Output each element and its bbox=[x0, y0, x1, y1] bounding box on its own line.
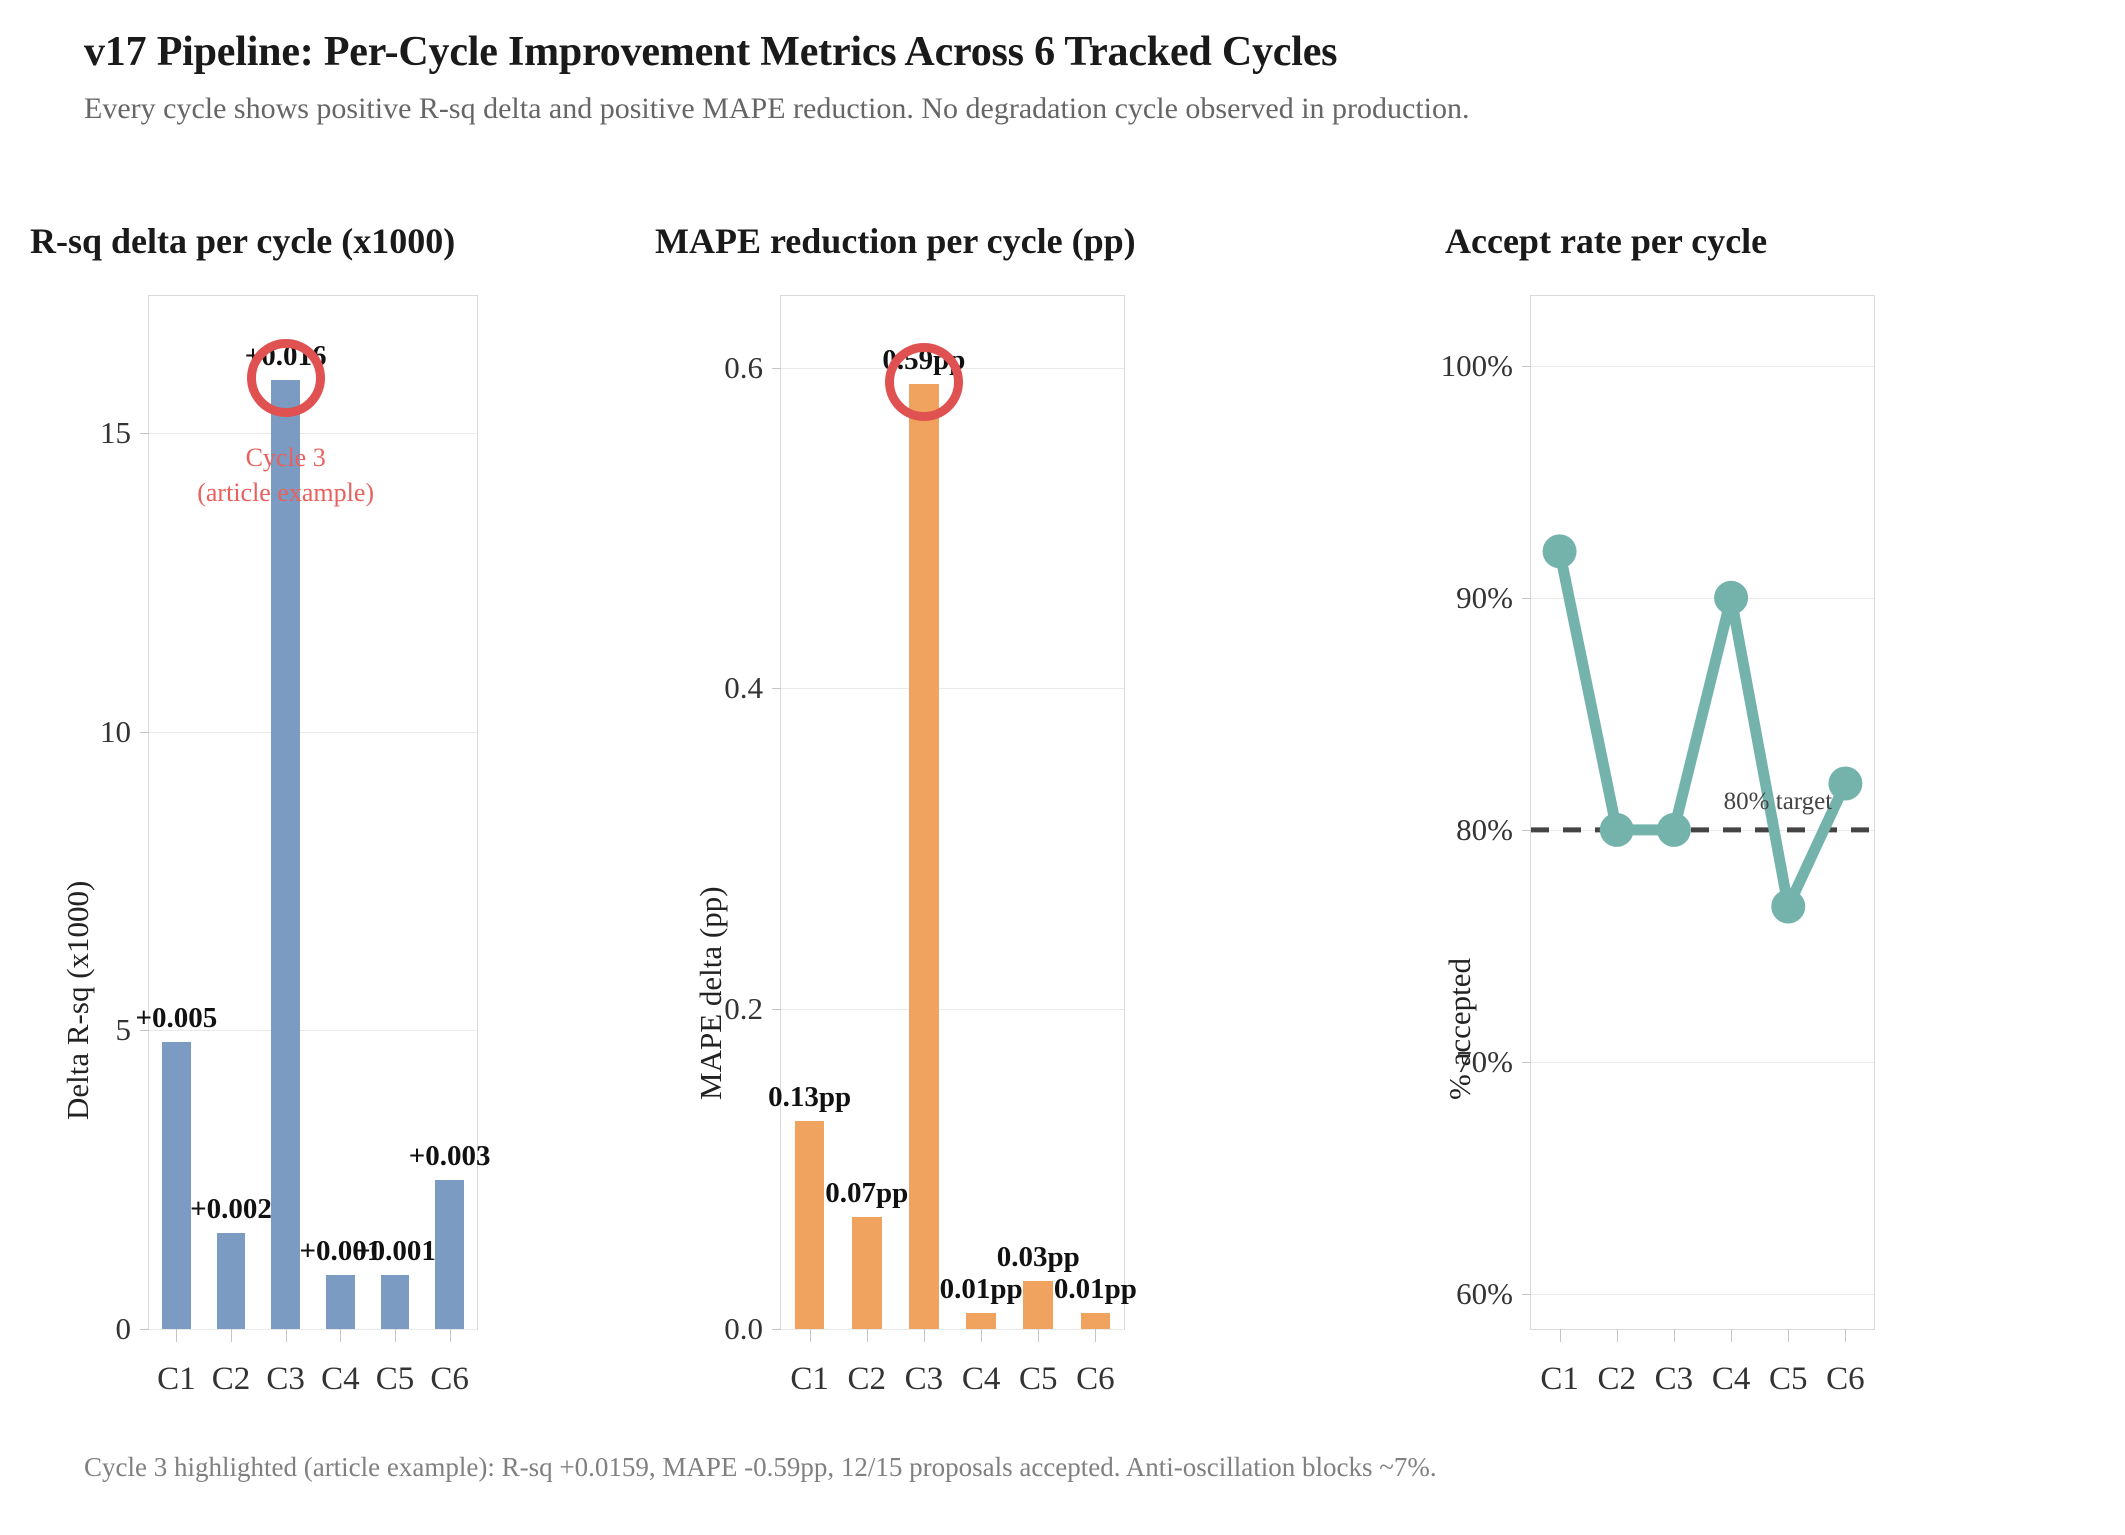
x-tick-label-c2: C2 bbox=[1597, 1361, 1636, 1398]
panel-2-title: MAPE reduction per cycle (pp) bbox=[655, 220, 1136, 262]
y-tick-label: 15 bbox=[100, 415, 131, 451]
figure-footnote: Cycle 3 highlighted (article example): R… bbox=[84, 1452, 1437, 1483]
x-tick-label-c4: C4 bbox=[962, 1361, 1001, 1398]
y-tick-mark bbox=[1522, 366, 1531, 367]
x-tick-mark bbox=[1845, 1329, 1846, 1342]
bar-label-c1: 0.13pp bbox=[768, 1081, 851, 1114]
gridline bbox=[781, 1009, 1124, 1010]
x-tick-mark bbox=[1731, 1329, 1732, 1342]
accept-rate-polyline bbox=[1560, 551, 1846, 906]
x-tick-label-c5: C5 bbox=[376, 1361, 415, 1398]
y-tick-mark bbox=[140, 433, 149, 434]
panel-2-plot-area: 0.00.20.40.6C1C2C3C4C5C60.13pp0.07pp0.59… bbox=[780, 295, 1125, 1330]
x-tick-label-c2: C2 bbox=[212, 1361, 251, 1398]
bar-c5 bbox=[381, 1275, 409, 1329]
gridline bbox=[149, 433, 477, 434]
bar-c2 bbox=[217, 1233, 245, 1329]
y-tick-label: 0.4 bbox=[724, 670, 763, 706]
panel-3-title: Accept rate per cycle bbox=[1445, 220, 1767, 262]
bar-label-c6: +0.003 bbox=[409, 1140, 491, 1173]
bar-label-c5: +0.001 bbox=[354, 1235, 436, 1268]
gridline bbox=[781, 688, 1124, 689]
panel-1-title: R-sq delta per cycle (x1000) bbox=[30, 220, 455, 262]
y-tick-mark bbox=[1522, 1062, 1531, 1063]
x-tick-label-c4: C4 bbox=[321, 1361, 360, 1398]
bar-c2 bbox=[852, 1217, 882, 1329]
bar-c3 bbox=[909, 384, 939, 1329]
figure-header: v17 Pipeline: Per-Cycle Improvement Metr… bbox=[84, 28, 2074, 126]
data-point-c4 bbox=[1714, 581, 1748, 615]
x-tick-mark bbox=[867, 1329, 868, 1342]
x-tick-label-c6: C6 bbox=[1076, 1361, 1115, 1398]
bar-label-c1: +0.005 bbox=[135, 1002, 217, 1035]
y-tick-mark bbox=[772, 1329, 781, 1330]
x-tick-mark bbox=[340, 1329, 341, 1342]
x-tick-mark bbox=[1674, 1329, 1675, 1342]
x-tick-label-c4: C4 bbox=[1712, 1361, 1751, 1398]
x-tick-mark bbox=[1617, 1329, 1618, 1342]
x-tick-label-c1: C1 bbox=[790, 1361, 829, 1398]
x-tick-mark bbox=[981, 1329, 982, 1342]
y-tick-mark bbox=[1522, 598, 1531, 599]
x-tick-mark bbox=[176, 1329, 177, 1342]
bar-label-c2: +0.002 bbox=[190, 1193, 272, 1226]
bar-label-c2: 0.07pp bbox=[825, 1177, 908, 1210]
highlight-ring-c3 bbox=[247, 339, 325, 417]
y-tick-mark bbox=[772, 1009, 781, 1010]
x-tick-label-c6: C6 bbox=[430, 1361, 469, 1398]
y-tick-label: 90% bbox=[1456, 580, 1513, 616]
x-tick-mark bbox=[286, 1329, 287, 1342]
y-tick-label: 5 bbox=[116, 1012, 132, 1048]
data-point-c2 bbox=[1600, 813, 1634, 847]
panel-3-plot-area: 60%70%80%90%100%C1C2C3C4C5C680% target bbox=[1530, 295, 1875, 1330]
y-tick-mark bbox=[1522, 1294, 1531, 1295]
x-tick-label-c6: C6 bbox=[1826, 1361, 1865, 1398]
y-tick-mark bbox=[140, 732, 149, 733]
y-tick-label: 0.6 bbox=[724, 350, 763, 386]
bar-c5 bbox=[1023, 1281, 1053, 1329]
y-tick-mark bbox=[1522, 830, 1531, 831]
panel-rsq-delta: R-sq delta per cycle (x1000) Delta R-sq … bbox=[30, 220, 690, 1400]
data-point-c3 bbox=[1657, 813, 1691, 847]
gridline bbox=[781, 1329, 1124, 1330]
x-tick-mark bbox=[450, 1329, 451, 1342]
y-tick-label: 0 bbox=[116, 1311, 132, 1347]
y-tick-label: 100% bbox=[1441, 348, 1513, 384]
x-tick-mark bbox=[810, 1329, 811, 1342]
data-point-c6 bbox=[1828, 766, 1862, 800]
x-tick-mark bbox=[1095, 1329, 1096, 1342]
page-title: v17 Pipeline: Per-Cycle Improvement Metr… bbox=[84, 28, 2074, 76]
y-tick-label: 0.2 bbox=[724, 991, 763, 1027]
x-tick-label-c3: C3 bbox=[266, 1361, 305, 1398]
y-tick-mark bbox=[772, 368, 781, 369]
page-subtitle: Every cycle shows positive R-sq delta an… bbox=[84, 92, 2074, 126]
bar-label-c4: 0.01pp bbox=[940, 1273, 1023, 1306]
y-tick-label: 0.0 bbox=[724, 1311, 763, 1347]
highlight-ring-c3 bbox=[885, 343, 963, 421]
panel-1-plot-area: 051015C1C2C3C4C5C6+0.005+0.002+0.016Cycl… bbox=[148, 295, 478, 1330]
bar-c6 bbox=[1081, 1313, 1111, 1329]
x-tick-mark bbox=[231, 1329, 232, 1342]
y-tick-mark bbox=[772, 688, 781, 689]
data-point-c1 bbox=[1543, 534, 1577, 568]
x-tick-mark bbox=[1560, 1329, 1561, 1342]
x-tick-label-c1: C1 bbox=[157, 1361, 196, 1398]
bar-c4 bbox=[966, 1313, 996, 1329]
x-tick-mark bbox=[1038, 1329, 1039, 1342]
bar-c6 bbox=[435, 1180, 463, 1329]
panel-mape-reduction: MAPE reduction per cycle (pp) MAPE delta… bbox=[655, 220, 1355, 1400]
bar-c1 bbox=[162, 1042, 190, 1329]
x-tick-label-c3: C3 bbox=[1655, 1361, 1694, 1398]
gridline bbox=[149, 732, 477, 733]
x-tick-mark bbox=[395, 1329, 396, 1342]
gridline bbox=[149, 1329, 477, 1330]
y-tick-label: 70% bbox=[1456, 1044, 1513, 1080]
y-tick-label: 80% bbox=[1456, 812, 1513, 848]
panel-1-y-axis-label: Delta R-sq (x1000) bbox=[60, 881, 96, 1120]
x-tick-mark bbox=[1788, 1329, 1789, 1342]
x-tick-label-c5: C5 bbox=[1019, 1361, 1058, 1398]
y-tick-mark bbox=[140, 1329, 149, 1330]
x-tick-mark bbox=[924, 1329, 925, 1342]
panel-accept-rate: Accept rate per cycle % accepted 60%70%8… bbox=[1380, 220, 2100, 1400]
x-tick-label-c2: C2 bbox=[847, 1361, 886, 1398]
x-tick-label-c1: C1 bbox=[1540, 1361, 1579, 1398]
data-point-c5 bbox=[1771, 890, 1805, 924]
y-tick-label: 60% bbox=[1456, 1276, 1513, 1312]
x-tick-label-c5: C5 bbox=[1769, 1361, 1808, 1398]
bar-label-c6: 0.01pp bbox=[1054, 1273, 1137, 1306]
highlight-annotation: Cycle 3(article example) bbox=[197, 440, 374, 510]
y-tick-label: 10 bbox=[100, 714, 131, 750]
bar-c3 bbox=[271, 380, 299, 1329]
bar-c1 bbox=[795, 1121, 825, 1329]
target-line-label: 80% target bbox=[1724, 788, 1833, 816]
bar-c4 bbox=[326, 1275, 354, 1329]
bar-label-c5: 0.03pp bbox=[997, 1241, 1080, 1274]
x-tick-label-c3: C3 bbox=[905, 1361, 944, 1398]
